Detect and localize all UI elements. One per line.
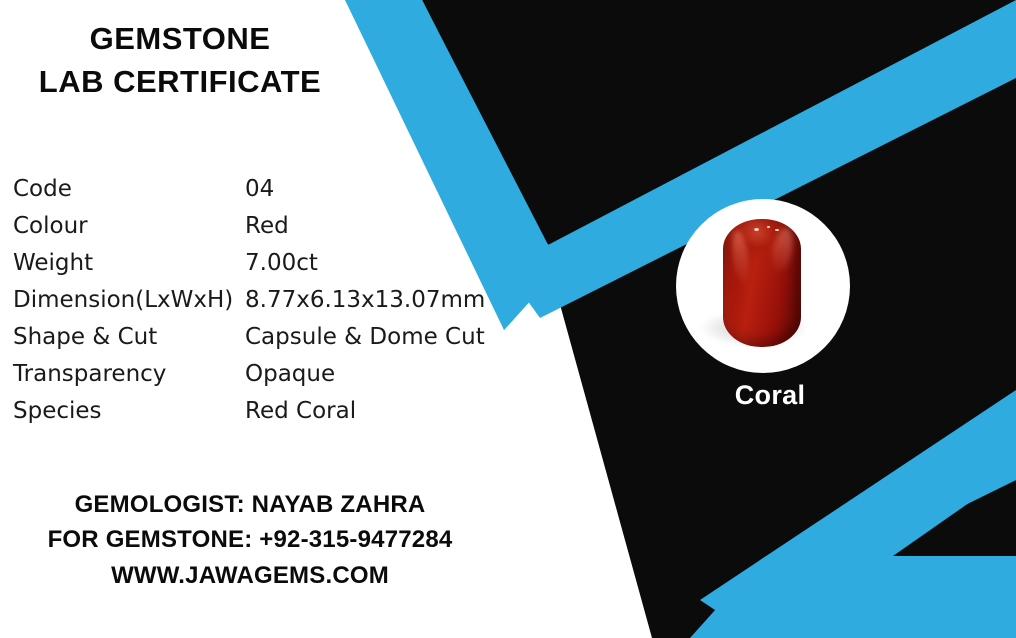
specification-table: Code 04 Colour Red Weight 7.00ct Dimensi…	[13, 176, 513, 435]
footer-gemologist-line: GEMOLOGIST: NAYAB ZAHRA	[0, 487, 500, 522]
footer-phone-line: FOR GEMSTONE: +92-315-9477284	[0, 522, 500, 557]
certificate-title: GEMSTONE LAB CERTIFICATE	[0, 18, 360, 104]
gem-medallion-circle	[676, 199, 850, 373]
footer-contact-block: GEMOLOGIST: NAYAB ZAHRA FOR GEMSTONE: +9…	[0, 487, 500, 593]
spec-label-colour: Colour	[13, 213, 245, 239]
spec-row-colour: Colour Red	[13, 213, 513, 250]
spec-value-transparency: Opaque	[245, 361, 335, 387]
footer-website-line: WWW.JAWAGEMS.COM	[0, 558, 500, 593]
gem-specular-dot	[767, 226, 770, 228]
spec-value-colour: Red	[245, 213, 289, 239]
spec-label-species: Species	[13, 398, 245, 424]
gem-caption-label: Coral	[660, 380, 880, 411]
spec-value-weight: 7.00ct	[245, 250, 318, 276]
spec-value-shape-cut: Capsule & Dome Cut	[245, 324, 485, 350]
gem-highlight-right	[769, 227, 796, 274]
gemstone-lab-certificate: GEMSTONE LAB CERTIFICATE Code 04 Colour …	[0, 0, 1016, 638]
spec-label-weight: Weight	[13, 250, 245, 276]
gem-specular-dot	[754, 228, 759, 231]
spec-value-code: 04	[245, 176, 274, 202]
spec-row-shape-cut: Shape & Cut Capsule & Dome Cut	[13, 324, 513, 361]
spec-label-transparency: Transparency	[13, 361, 245, 387]
title-line-2: LAB CERTIFICATE	[0, 61, 360, 104]
spec-row-dimension: Dimension(LxWxH) 8.77x6.13x13.07mm	[13, 287, 513, 324]
title-line-1: GEMSTONE	[0, 18, 360, 61]
spec-row-species: Species Red Coral	[13, 398, 513, 435]
spec-value-species: Red Coral	[245, 398, 356, 424]
spec-row-transparency: Transparency Opaque	[13, 361, 513, 398]
spec-label-code: Code	[13, 176, 245, 202]
spec-row-code: Code 04	[13, 176, 513, 213]
gem-highlight-left	[730, 230, 751, 283]
spec-label-dimension: Dimension(LxWxH)	[13, 287, 245, 313]
gem-specular-dot	[775, 229, 779, 231]
red-coral-gemstone-image	[723, 219, 801, 347]
spec-value-dimension: 8.77x6.13x13.07mm	[245, 287, 485, 313]
spec-row-weight: Weight 7.00ct	[13, 250, 513, 287]
spec-label-shape-cut: Shape & Cut	[13, 324, 245, 350]
